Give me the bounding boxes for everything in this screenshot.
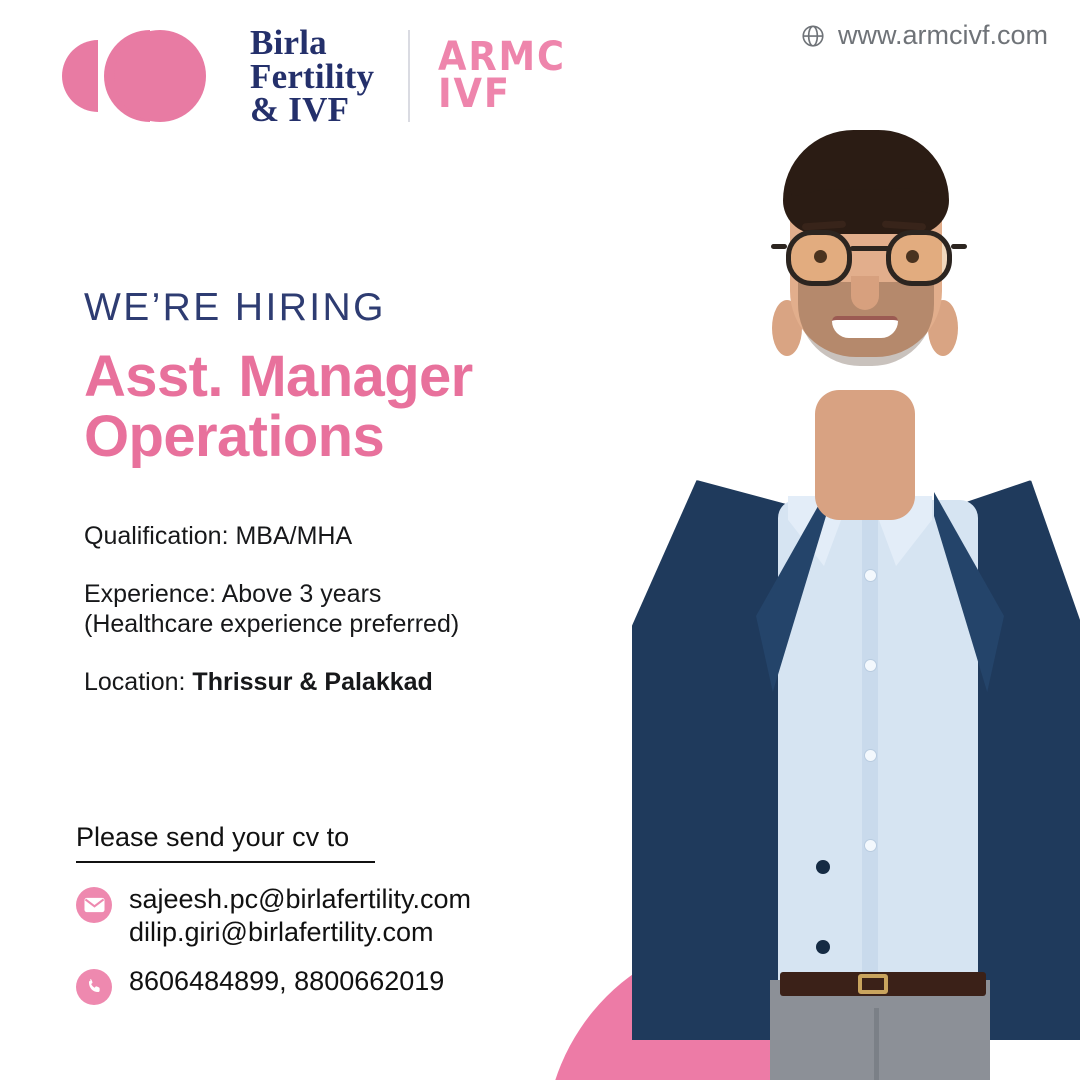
candidate-photo (540, 100, 1080, 1080)
website-url: www.armcivf.com (838, 20, 1048, 51)
poster-header: Birla Fertility & IVF ARMC IVF www.armci… (0, 0, 1080, 150)
logo-divider (408, 30, 410, 122)
job-copy: WE’RE HIRING Asst. Manager Operations Qu… (84, 288, 554, 698)
phone-contact[interactable]: 8606484899, 8800662019 (76, 965, 471, 1005)
detail-experience: Experience: Above 3 years (Healthcare ex… (84, 580, 554, 639)
phone-icon (76, 969, 112, 1005)
detail-location: Location: Thrissur & Palakkad (84, 668, 554, 698)
dress-shirt (778, 500, 978, 1020)
blazer-button (816, 860, 830, 874)
job-title-line1: Asst. Manager (84, 344, 473, 409)
eyeglasses (786, 230, 952, 288)
brand-name-line3: & IVF (250, 93, 374, 127)
hiring-poster: Birla Fertility & IVF ARMC IVF www.armci… (0, 0, 1080, 1080)
job-title-line2: Operations (84, 407, 554, 467)
shirt-button (865, 750, 876, 761)
brand-logo: Birla Fertility & IVF ARMC IVF (62, 26, 577, 127)
qualification-text: Qualification: MBA/MHA (84, 522, 352, 550)
belt-buckle (858, 974, 888, 994)
brand-name-line1: Birla (250, 26, 374, 60)
location-value: Thrissur & Palakkad (192, 668, 432, 696)
phone-glyph (85, 977, 104, 996)
email-line1: sajeesh.pc@birlafertility.com (129, 883, 471, 916)
envelope-glyph (84, 897, 105, 913)
neck (815, 390, 915, 520)
contact-lines: sajeesh.pc@birlafertility.com dilip.giri… (76, 883, 471, 1005)
glasses-temple-right (951, 244, 967, 249)
glasses-temple-left (771, 244, 787, 249)
job-title: Asst. Manager Operations (84, 347, 554, 468)
armc-wordmark: ARMC IVF (438, 39, 566, 113)
shirt-button (865, 570, 876, 581)
eye-left (814, 250, 827, 263)
eye-right (906, 250, 919, 263)
contact-block: Please send your cv to sajeesh.pc@birlaf… (76, 822, 471, 1005)
email-addresses: sajeesh.pc@birlafertility.com dilip.giri… (129, 883, 471, 949)
email-line2: dilip.giri@birlafertility.com (129, 916, 471, 949)
smile (832, 316, 898, 338)
glasses-bridge (850, 246, 890, 251)
armc-line2: IVF (438, 76, 566, 113)
shirt-button (865, 660, 876, 671)
location-label: Location: (84, 668, 192, 696)
logo-half-circle-small (62, 40, 98, 112)
hiring-kicker: WE’RE HIRING (84, 288, 554, 327)
cv-instruction: Please send your cv to (76, 822, 375, 863)
website-link[interactable]: www.armcivf.com (800, 20, 1048, 51)
birla-circles-icon (62, 28, 174, 124)
brand-name-line2: Fertility (250, 60, 374, 94)
email-contact[interactable]: sajeesh.pc@birlafertility.com dilip.giri… (76, 883, 471, 949)
envelope-icon (76, 887, 112, 923)
globe-icon (800, 23, 826, 49)
detail-qualification: Qualification: MBA/MHA (84, 522, 554, 552)
shirt-button (865, 840, 876, 851)
experience-line2: (Healthcare experience preferred) (84, 610, 554, 640)
experience-line1: Experience: Above 3 years (84, 580, 554, 610)
blazer-button (816, 940, 830, 954)
lens-right (886, 230, 952, 286)
phone-numbers: 8606484899, 8800662019 (129, 965, 444, 998)
logo-full-circle (114, 30, 206, 122)
brand-wordmark: Birla Fertility & IVF (250, 26, 374, 127)
job-details: Qualification: MBA/MHA Experience: Above… (84, 522, 554, 698)
